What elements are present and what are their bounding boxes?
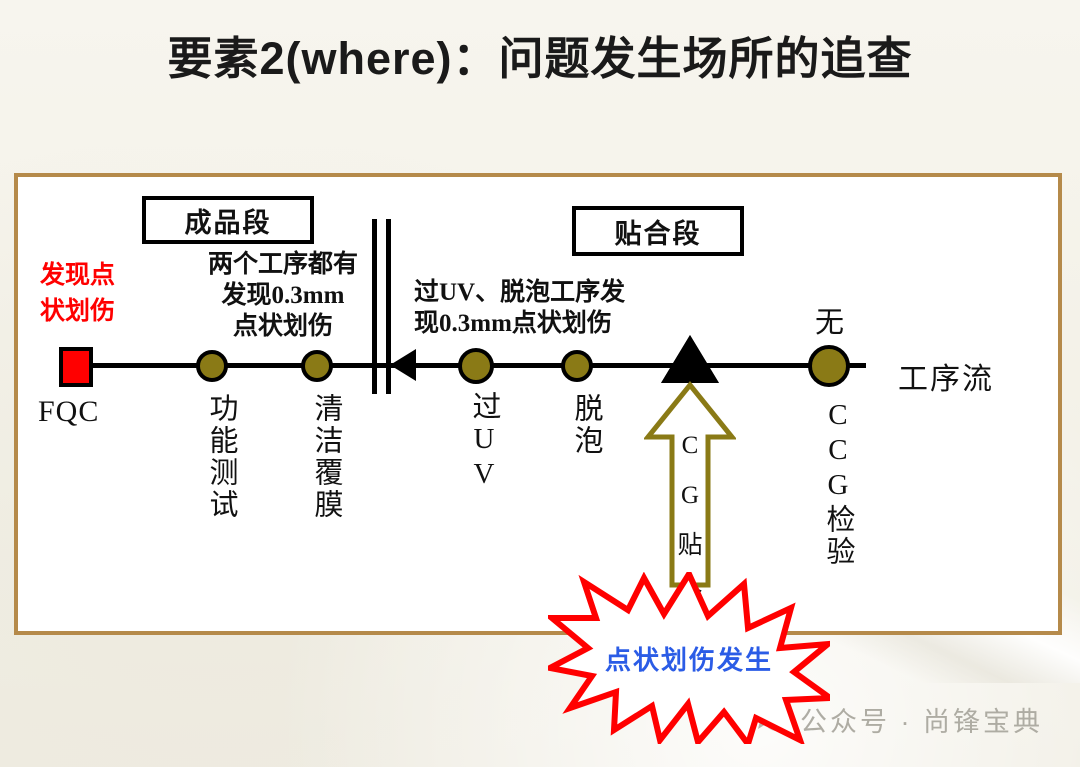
- stage-box-lamination: 贴合段: [572, 206, 744, 256]
- ccg-bonding-char: C: [644, 421, 736, 471]
- process-label-defoam: 脱泡: [563, 393, 608, 457]
- annotation-line: 现0.3mm点状划伤: [414, 308, 644, 339]
- defect-callout-label: 点状划伤发生: [548, 640, 830, 677]
- process-node-function-test: [196, 350, 228, 382]
- fqc-terminal-node: [59, 347, 93, 387]
- process-node-ccg-inspection: [808, 345, 850, 387]
- fqc-label: FQC: [38, 395, 99, 429]
- stage-divider-line: [372, 219, 377, 394]
- process-label-ccg-inspection: CCG检验: [815, 399, 860, 568]
- process-node-clean-film: [301, 350, 333, 382]
- process-label-clean-film: 清洁覆膜: [303, 393, 348, 521]
- ccg-inspection-none-label: 无: [815, 299, 844, 341]
- annotation-line: 两个工序都有: [193, 249, 373, 280]
- ccg-bonding-char: 贴: [644, 521, 736, 571]
- process-node-uv: [458, 348, 494, 384]
- page-title: 要素2(where)：问题发生场所的追查: [0, 22, 1080, 87]
- ccg-bonding-char: G: [644, 471, 736, 521]
- process-flow-label: 工序流: [898, 354, 994, 398]
- process-label-uv: 过UV: [461, 391, 506, 493]
- detection-point-line: 发现点: [40, 257, 160, 293]
- ccg-bonding-up-arrow: C G 贴 合: [644, 381, 736, 589]
- annotation-line: 点状划伤: [193, 311, 373, 342]
- annotation-line: 过UV、脱泡工序发: [414, 277, 644, 308]
- detection-point-line: 状划伤: [40, 293, 160, 329]
- process-label-function-test: 功能测试: [198, 393, 243, 521]
- process-node-defoam: [561, 350, 593, 382]
- flow-arrow-mid-icon: [390, 349, 416, 381]
- stage-box-finished-goods: 成品段: [142, 196, 314, 244]
- watermark-text: 公众号 · 尚锋宝典: [800, 700, 1043, 739]
- annotation-finished-goods: 两个工序都有 发现0.3mm 点状划伤: [193, 249, 373, 342]
- annotation-line: 发现0.3mm: [193, 280, 373, 311]
- detection-point-text: 发现点 状划伤: [40, 257, 160, 329]
- annotation-lamination: 过UV、脱泡工序发 现0.3mm点状划伤: [414, 277, 644, 339]
- defect-callout-burst: 点状划伤发生: [548, 572, 830, 744]
- diagram-panel: 成品段 贴合段 两个工序都有 发现0.3mm 点状划伤 过UV、脱泡工序发 现0…: [14, 173, 1062, 635]
- process-node-ccg-bonding-triangle: [664, 338, 716, 382]
- stage-divider-line: [386, 219, 391, 394]
